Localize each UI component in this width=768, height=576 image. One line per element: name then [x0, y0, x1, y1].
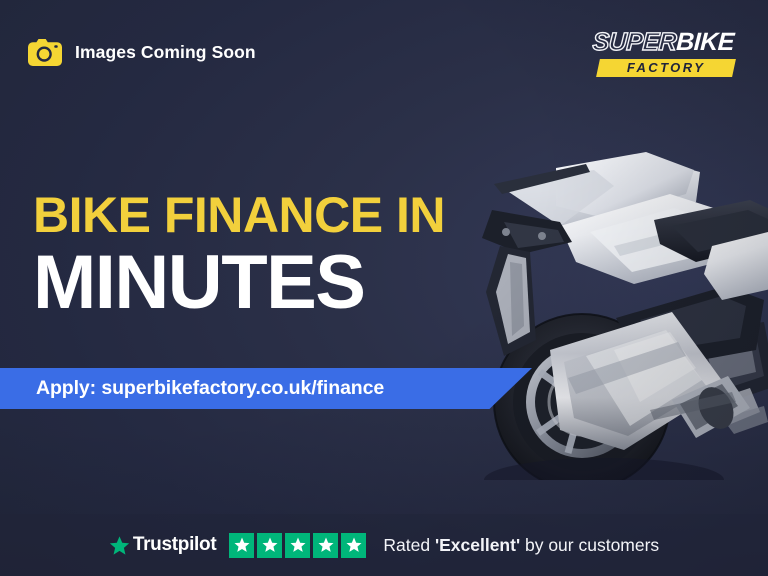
trustpilot-star-icon: [109, 535, 130, 556]
trustpilot-wordmark: Trustpilot: [133, 534, 217, 556]
star-icon: [233, 536, 251, 554]
logo-factory-banner: FACTORY: [596, 59, 736, 77]
rating-star-2: [257, 533, 282, 558]
trustpilot-star-rating: [229, 533, 366, 558]
promo-banner: Images Coming Soon SUPERBIKE FACTORY BIK…: [0, 0, 768, 576]
headline-line-1: BIKE FINANCE IN: [33, 190, 445, 240]
top-bar: Images Coming Soon SUPERBIKE FACTORY: [0, 0, 768, 104]
rating-star-5: [341, 533, 366, 558]
trustpilot-strip: Trustpilot Rated 'Excellent' by our cust…: [0, 514, 768, 576]
logo-bike-text: BIKE: [676, 30, 735, 55]
camera-icon: [28, 39, 62, 66]
headline-line-2: MINUTES: [33, 245, 445, 321]
rating-star-4: [313, 533, 338, 558]
images-coming-soon-label: Images Coming Soon: [75, 42, 256, 63]
rated-word: 'Excellent': [435, 535, 520, 555]
rated-suffix: by our customers: [520, 535, 659, 555]
rating-star-1: [229, 533, 254, 558]
images-coming-soon: Images Coming Soon: [28, 39, 256, 66]
star-icon: [345, 536, 363, 554]
apply-banner[interactable]: Apply: superbikefactory.co.uk/finance: [0, 368, 532, 409]
logo-super-text: SUPER: [592, 30, 677, 55]
headline-block: BIKE FINANCE IN MINUTES: [33, 190, 445, 321]
trustpilot-rating-text: Rated 'Excellent' by our customers: [383, 535, 659, 556]
superbike-factory-logo: SUPERBIKE FACTORY: [598, 30, 734, 77]
rating-star-3: [285, 533, 310, 558]
star-icon: [289, 536, 307, 554]
rated-prefix: Rated: [383, 535, 435, 555]
apply-url-text: Apply: superbikefactory.co.uk/finance: [0, 377, 384, 400]
logo-wordmark: SUPERBIKE: [597, 30, 734, 55]
trustpilot-brand: Trustpilot: [109, 534, 217, 556]
logo-factory-text: FACTORY: [598, 61, 734, 74]
star-icon: [317, 536, 335, 554]
star-icon: [261, 536, 279, 554]
